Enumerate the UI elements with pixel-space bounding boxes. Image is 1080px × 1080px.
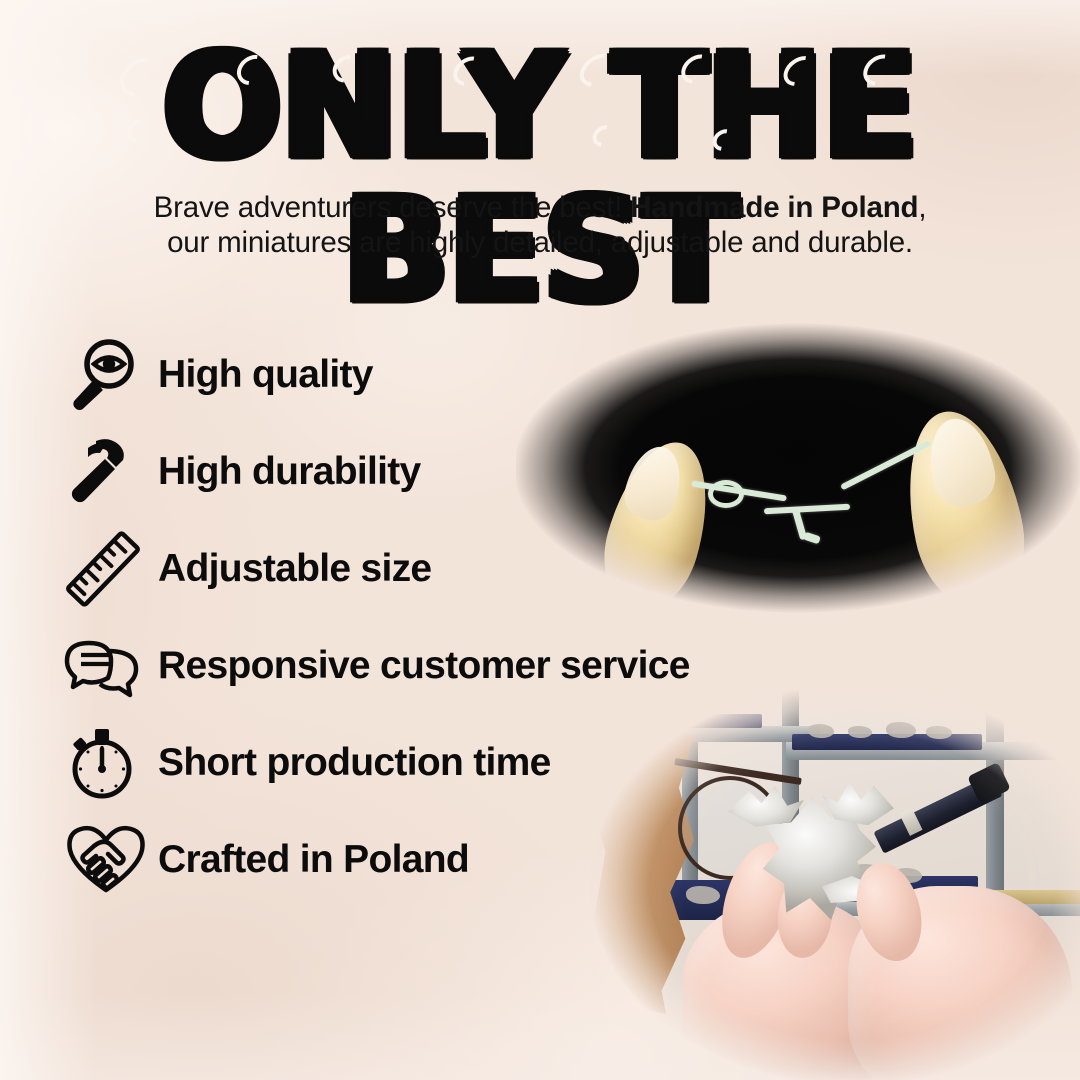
stopwatch-icon bbox=[64, 723, 150, 803]
feature-list: High quality High durability bbox=[64, 326, 784, 908]
subtitle-lead: Brave adventurers deserve the best! bbox=[154, 191, 631, 224]
magnifier-eye-icon bbox=[64, 335, 150, 415]
feature-item-short-production-time: Short production time bbox=[64, 714, 784, 811]
feature-item-adjustable-size: Adjustable size bbox=[64, 520, 784, 617]
ruler-icon bbox=[64, 529, 150, 609]
miniature-on-shelf bbox=[926, 726, 952, 739]
chat-bubbles-icon bbox=[64, 626, 150, 706]
subtitle: Brave adventurers deserve the best! Hand… bbox=[0, 190, 1080, 260]
subtitle-highlight: Handmade in Poland bbox=[630, 191, 918, 224]
feature-label: High durability bbox=[158, 450, 421, 494]
page-title: ONLY THE BEST bbox=[0, 34, 1080, 322]
subtitle-tail: , bbox=[918, 191, 926, 224]
feature-label: High quality bbox=[158, 353, 373, 397]
subtitle-line-1: Brave adventurers deserve the best! Hand… bbox=[0, 190, 1080, 225]
feature-item-crafted-in-poland: Crafted in Poland bbox=[64, 811, 784, 908]
feature-label: Responsive customer service bbox=[158, 644, 690, 688]
feature-item-responsive-customer-service: Responsive customer service bbox=[64, 617, 784, 714]
feature-item-high-quality: High quality bbox=[64, 326, 784, 423]
feature-label: Adjustable size bbox=[158, 547, 431, 591]
feature-label: Crafted in Poland bbox=[158, 838, 469, 882]
feature-item-high-durability: High durability bbox=[64, 423, 784, 520]
miniature-on-shelf bbox=[848, 726, 872, 738]
hammer-icon bbox=[64, 432, 150, 512]
heart-handshake-icon bbox=[64, 820, 150, 900]
subtitle-line-2: our miniatures are highly detailed, adju… bbox=[0, 225, 1080, 260]
miniature-on-shelf bbox=[886, 722, 916, 738]
feature-label: Short production time bbox=[158, 741, 551, 785]
miniature-on-shelf bbox=[808, 724, 834, 738]
